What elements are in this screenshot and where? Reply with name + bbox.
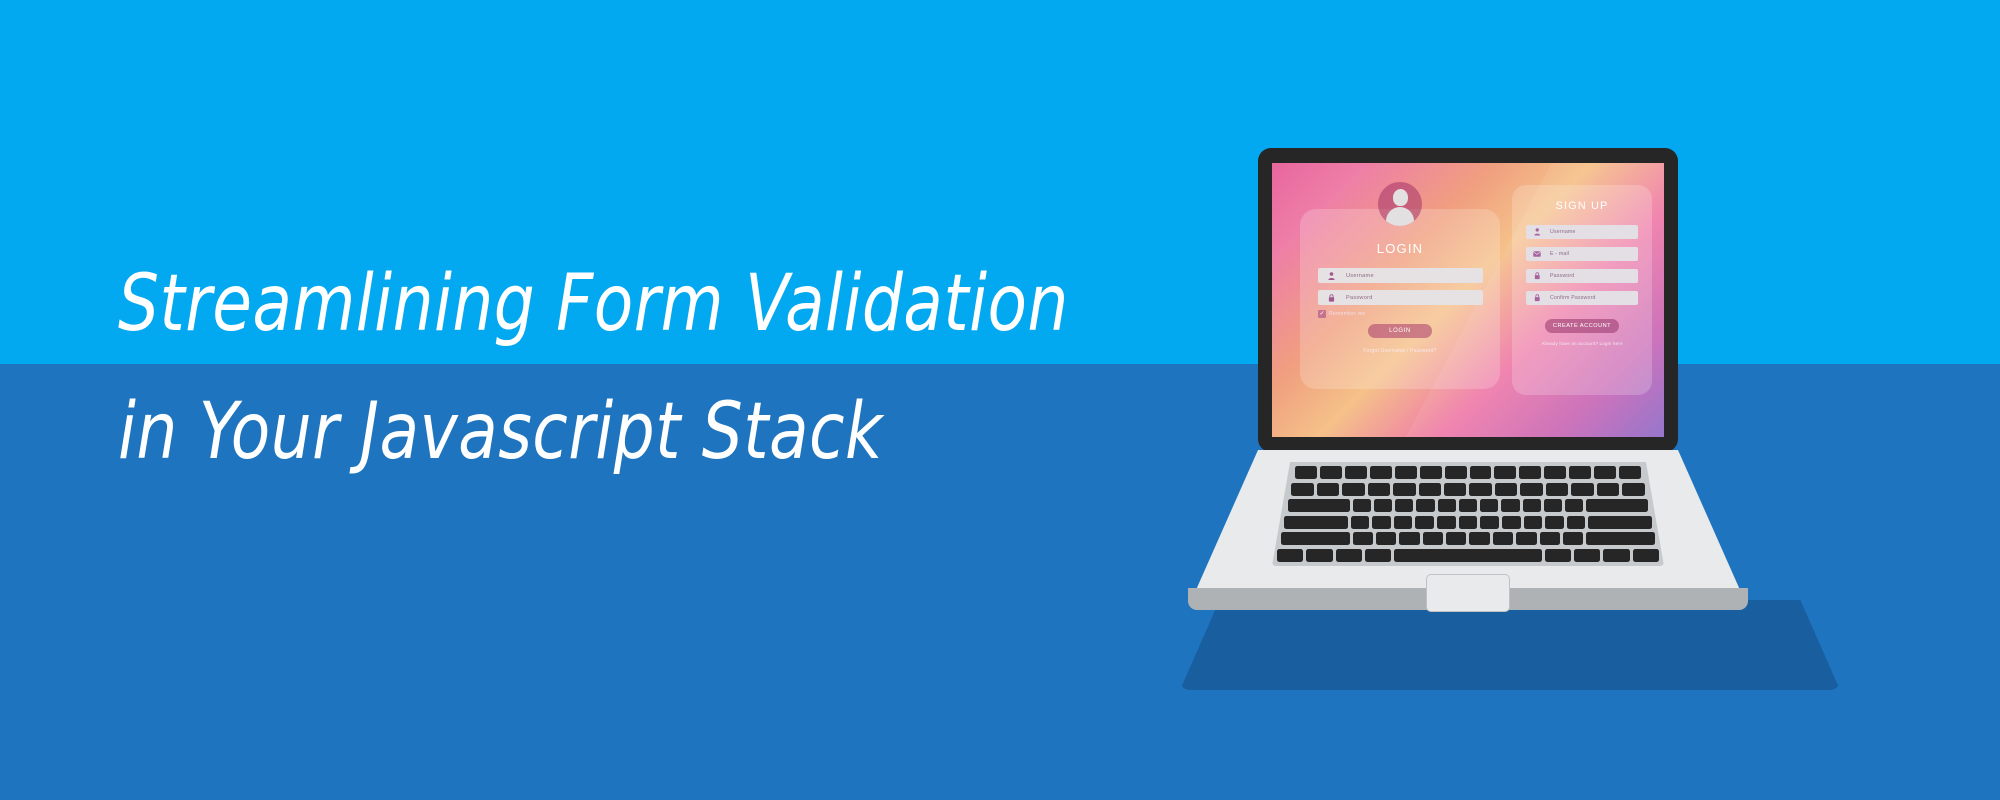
keyboard-key[interactable]	[1563, 532, 1583, 545]
keyboard-key[interactable]	[1320, 466, 1342, 479]
login-submit-button[interactable]: LOGIN	[1368, 324, 1432, 338]
signup-confirm-password-placeholder: Confirm Password	[1550, 295, 1596, 301]
keyboard-key[interactable]	[1368, 483, 1390, 496]
keyboard-key[interactable]	[1353, 499, 1371, 512]
keyboard-key[interactable]	[1394, 549, 1541, 562]
keyboard-key[interactable]	[1395, 466, 1417, 479]
signup-password-field[interactable]: Password	[1526, 269, 1638, 283]
keyboard-key[interactable]	[1394, 516, 1413, 529]
keyboard-key[interactable]	[1619, 466, 1641, 479]
keyboard-key[interactable]	[1345, 466, 1367, 479]
keyboard-key[interactable]	[1480, 499, 1498, 512]
login-password-field[interactable]: Password	[1318, 290, 1483, 305]
keyboard-key[interactable]	[1277, 549, 1303, 562]
keyboard-key[interactable]	[1306, 549, 1332, 562]
login-username-placeholder: Username	[1346, 273, 1374, 279]
keyboard-key[interactable]	[1501, 499, 1519, 512]
keyboard-row	[1284, 516, 1652, 529]
keyboard-key[interactable]	[1444, 483, 1466, 496]
keyboard-key[interactable]	[1544, 466, 1566, 479]
keyboard-key[interactable]	[1342, 483, 1364, 496]
remember-me-label: Remember me	[1329, 311, 1366, 317]
login-card: LOGIN Username Password	[1300, 209, 1500, 389]
signup-card: SIGN UP Username E - mail	[1512, 185, 1652, 395]
avatar-body	[1386, 207, 1414, 226]
laptop-screen: LOGIN Username Password	[1272, 163, 1664, 437]
keyboard-key[interactable]	[1288, 499, 1350, 512]
headline-line-1: Streamlining Form Validation	[118, 240, 1204, 368]
keyboard-key[interactable]	[1446, 532, 1466, 545]
keyboard-key[interactable]	[1524, 516, 1543, 529]
keyboard-key[interactable]	[1336, 549, 1362, 562]
keyboard-key[interactable]	[1523, 499, 1541, 512]
keyboard-key[interactable]	[1502, 516, 1521, 529]
keyboard-key[interactable]	[1520, 483, 1542, 496]
keyboard-key[interactable]	[1317, 483, 1339, 496]
keyboard-key[interactable]	[1586, 532, 1655, 545]
person-icon	[1530, 228, 1544, 236]
keyboard-key[interactable]	[1445, 466, 1467, 479]
trackpad[interactable]	[1426, 574, 1510, 612]
laptop-lid: LOGIN Username Password	[1258, 148, 1678, 452]
keyboard-key[interactable]	[1597, 483, 1619, 496]
keyboard-row	[1277, 549, 1659, 562]
remember-me-row[interactable]: ✓ Remember me	[1318, 310, 1366, 318]
keyboard-key[interactable]	[1546, 483, 1568, 496]
signup-email-field[interactable]: E - mail	[1526, 247, 1638, 261]
keyboard-key[interactable]	[1540, 532, 1560, 545]
signup-title: SIGN UP	[1512, 200, 1652, 212]
keyboard-key[interactable]	[1420, 466, 1442, 479]
keyboard-key[interactable]	[1295, 466, 1317, 479]
lock-icon	[1323, 294, 1339, 302]
keyboard-key[interactable]	[1374, 499, 1392, 512]
headline: Streamlining Form Validation in Your Jav…	[118, 240, 1298, 496]
keyboard-key[interactable]	[1416, 499, 1434, 512]
keyboard-key[interactable]	[1415, 516, 1434, 529]
keyboard-row	[1281, 532, 1656, 545]
create-account-button[interactable]: CREATE ACCOUNT	[1545, 319, 1619, 333]
lock-icon	[1530, 294, 1544, 302]
remember-me-checkbox[interactable]: ✓	[1318, 310, 1326, 318]
keyboard-key[interactable]	[1519, 466, 1541, 479]
keyboard-key[interactable]	[1399, 532, 1419, 545]
signup-confirm-password-field[interactable]: Confirm Password	[1526, 291, 1638, 305]
keyboard-key[interactable]	[1423, 532, 1443, 545]
login-title: LOGIN	[1300, 241, 1500, 256]
keyboard-key[interactable]	[1281, 532, 1350, 545]
login-password-placeholder: Password	[1346, 295, 1373, 301]
keyboard-key[interactable]	[1603, 549, 1629, 562]
keyboard-key[interactable]	[1574, 549, 1600, 562]
signup-password-placeholder: Password	[1550, 273, 1574, 279]
keyboard-key[interactable]	[1633, 549, 1659, 562]
login-username-field[interactable]: Username	[1318, 268, 1483, 283]
keyboard-key[interactable]	[1370, 466, 1392, 479]
keyboard	[1272, 462, 1664, 566]
keyboard-key[interactable]	[1419, 483, 1441, 496]
forgot-credentials-link[interactable]: Forgot Username / Password?	[1300, 348, 1500, 354]
keyboard-key[interactable]	[1438, 499, 1456, 512]
keyboard-row	[1291, 483, 1644, 496]
keyboard-key[interactable]	[1480, 516, 1499, 529]
keyboard-key[interactable]	[1470, 466, 1492, 479]
keyboard-key[interactable]	[1545, 516, 1564, 529]
keyboard-row	[1295, 466, 1641, 479]
keyboard-key[interactable]	[1459, 516, 1478, 529]
keyboard-key[interactable]	[1395, 499, 1413, 512]
avatar-head	[1393, 189, 1408, 206]
lock-icon	[1530, 272, 1544, 280]
keyboard-key[interactable]	[1567, 516, 1586, 529]
signup-username-placeholder: Username	[1550, 229, 1576, 235]
keyboard-key[interactable]	[1469, 483, 1491, 496]
keyboard-key[interactable]	[1393, 483, 1415, 496]
keyboard-key[interactable]	[1351, 516, 1370, 529]
keyboard-key[interactable]	[1494, 466, 1516, 479]
headline-line-2: in Your Javascript Stack	[118, 368, 1204, 496]
keyboard-key[interactable]	[1284, 516, 1347, 529]
keyboard-key[interactable]	[1569, 466, 1591, 479]
signup-email-placeholder: E - mail	[1550, 251, 1569, 257]
keyboard-key[interactable]	[1565, 499, 1583, 512]
keyboard-key[interactable]	[1586, 499, 1648, 512]
envelope-icon	[1530, 251, 1544, 257]
signup-username-field[interactable]: Username	[1526, 225, 1638, 239]
keyboard-key[interactable]	[1495, 483, 1517, 496]
person-icon	[1323, 272, 1339, 280]
keyboard-key[interactable]	[1622, 483, 1644, 496]
user-avatar-icon	[1378, 182, 1422, 226]
hero-banner: Streamlining Form Validation in Your Jav…	[0, 0, 2000, 800]
keyboard-key[interactable]	[1353, 532, 1373, 545]
keyboard-key[interactable]	[1588, 516, 1651, 529]
keyboard-key[interactable]	[1372, 516, 1391, 529]
keyboard-key[interactable]	[1516, 532, 1536, 545]
keyboard-key[interactable]	[1459, 499, 1477, 512]
keyboard-key[interactable]	[1469, 532, 1489, 545]
keyboard-key[interactable]	[1594, 466, 1616, 479]
keyboard-key[interactable]	[1437, 516, 1456, 529]
keyboard-key[interactable]	[1571, 483, 1593, 496]
keyboard-row	[1288, 499, 1648, 512]
keyboard-key[interactable]	[1365, 549, 1391, 562]
keyboard-key[interactable]	[1493, 532, 1513, 545]
keyboard-key[interactable]	[1376, 532, 1396, 545]
login-here-link[interactable]: Already have an account? Login here	[1512, 341, 1652, 346]
keyboard-key[interactable]	[1545, 549, 1571, 562]
keyboard-key[interactable]	[1544, 499, 1562, 512]
